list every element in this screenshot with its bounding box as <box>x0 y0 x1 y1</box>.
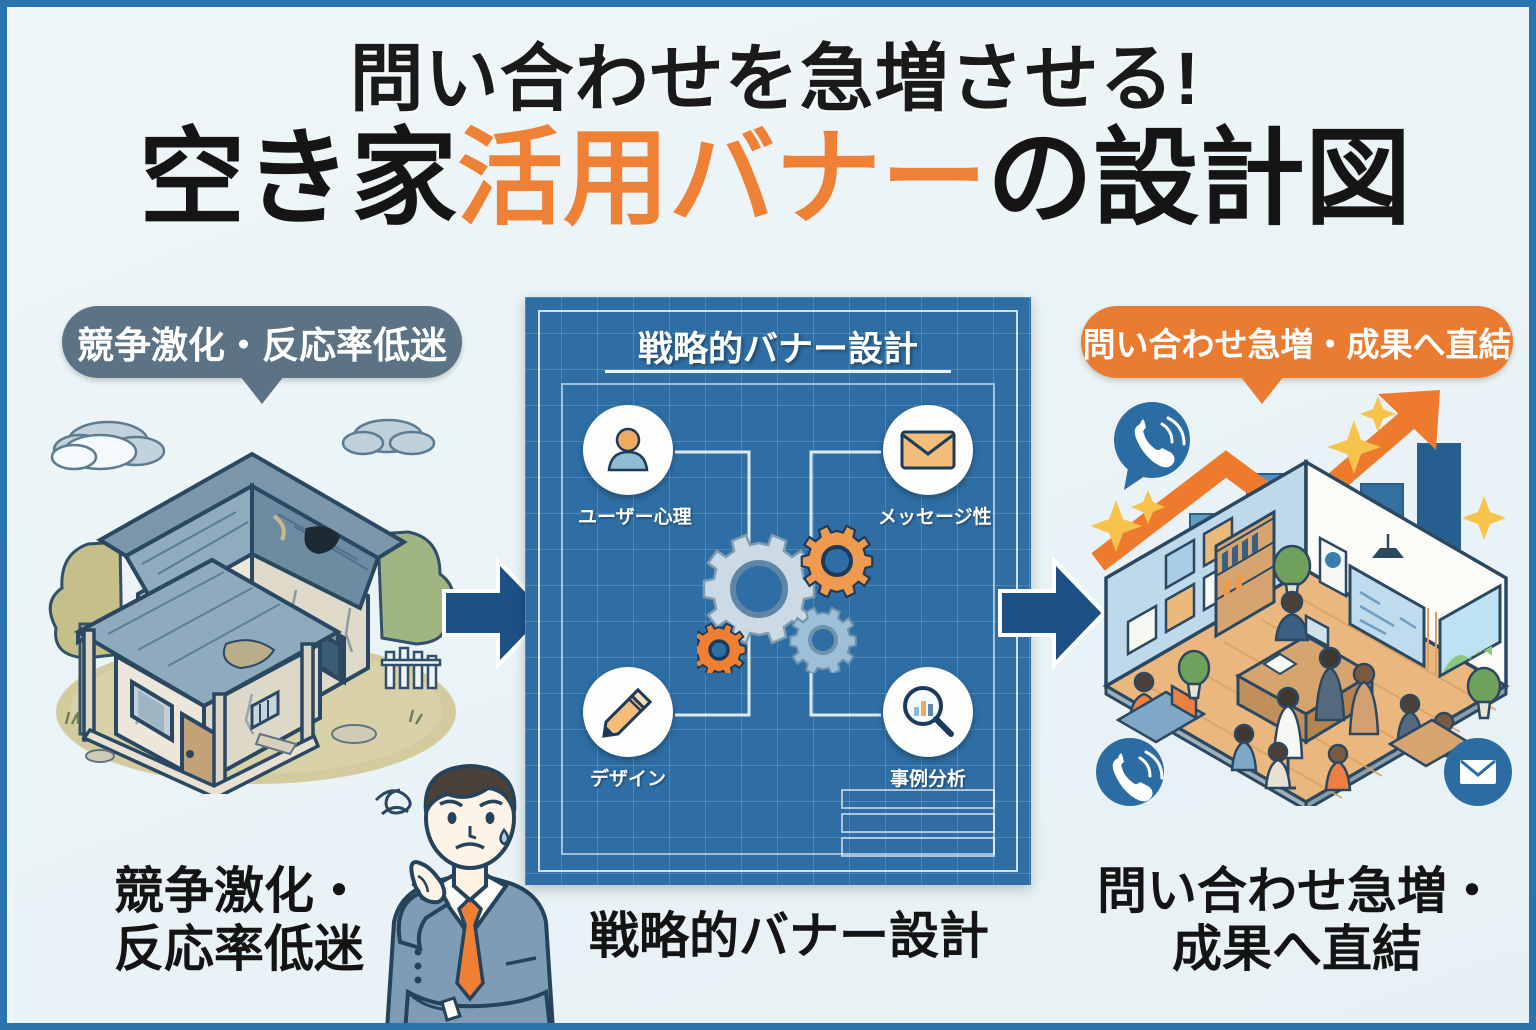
infographic-canvas: 問い合わせを急増させる! 空き家活用バナーの設計図 競争激化・反応率低迷 問い合… <box>0 0 1536 1030</box>
busy-office-growth-illustration <box>1092 386 1522 806</box>
gears-cluster <box>697 523 877 673</box>
blueprint-node-messaging[interactable]: メッセージ性 <box>878 405 978 529</box>
person-icon <box>583 405 673 495</box>
phone-circle-icon <box>1096 738 1164 806</box>
speech-bubble-result: 問い合わせ急増・成果へ直結 <box>1081 306 1513 378</box>
caption-solution-line1: 戦略的バナー設計 <box>554 907 1024 965</box>
speech-bubble-problem-label: 競争激化・反応率低迷 <box>77 315 447 369</box>
caption-problem: 競争激化・ 反応率低迷 <box>74 862 404 978</box>
dizzy-swirl-icon <box>376 790 410 814</box>
arrow-right-blue <box>998 555 1106 676</box>
office-person <box>1316 648 1344 720</box>
title-accent: 活用バナー <box>457 120 987 238</box>
phone-bubble-icon <box>1114 402 1190 490</box>
pencil-icon <box>583 667 673 757</box>
caption-result-line1: 問い合わせ急増・ <box>1082 862 1512 920</box>
caption-result: 問い合わせ急増・ 成果へ直結 <box>1082 862 1512 978</box>
sweat-drop-icon <box>501 830 509 844</box>
caption-problem-line1: 競争激化・ <box>74 862 404 920</box>
title-block-row <box>841 789 995 809</box>
caption-result-line2: 成果へ直結 <box>1082 920 1512 978</box>
magnifier-chart-icon <box>883 667 973 757</box>
title-block-row <box>841 813 995 833</box>
blueprint-node-case-analysis[interactable]: 事例分析 <box>878 667 978 791</box>
blueprint-title-block <box>841 789 995 849</box>
blueprint-node-label: 事例分析 <box>878 764 978 791</box>
blueprint-node-label: ユーザー心理 <box>578 502 678 529</box>
caption-problem-line2: 反応率低迷 <box>74 920 404 978</box>
office-person <box>1350 664 1378 734</box>
blueprint-node-label: デザイン <box>578 764 678 791</box>
speech-bubble-result-label: 問い合わせ急増・成果へ直結 <box>1083 318 1512 366</box>
envelope-icon <box>883 405 973 495</box>
caption-solution: 戦略的バナー設計 <box>554 907 1024 965</box>
speech-bubble-problem: 競争激化・反応率低迷 <box>62 306 462 378</box>
title-block-row <box>841 837 995 857</box>
abandoned-house-illustration <box>38 394 468 794</box>
page-title: 問い合わせを急増させる! 空き家活用バナーの設計図 <box>14 40 1536 236</box>
title-line-1: 問い合わせを急増させる! <box>14 40 1536 118</box>
blueprint-node-label: メッセージ性 <box>878 502 978 529</box>
infographic-inner: 問い合わせを急増させる! 空き家活用バナーの設計図 競争激化・反応率低迷 問い合… <box>14 14 1536 1030</box>
title-line-2: 空き家活用バナーの設計図 <box>14 122 1536 236</box>
cloud-icon <box>343 420 434 454</box>
blueprint-node-design[interactable]: デザイン <box>578 667 678 791</box>
envelope-circle-icon <box>1444 738 1512 806</box>
title-after: の設計図 <box>987 120 1411 238</box>
title-before: 空き家 <box>139 120 457 238</box>
blueprint-panel: 戦略的バナー設計 ユーザー心理 <box>525 297 1031 885</box>
blueprint-node-user-psychology[interactable]: ユーザー心理 <box>578 405 678 529</box>
